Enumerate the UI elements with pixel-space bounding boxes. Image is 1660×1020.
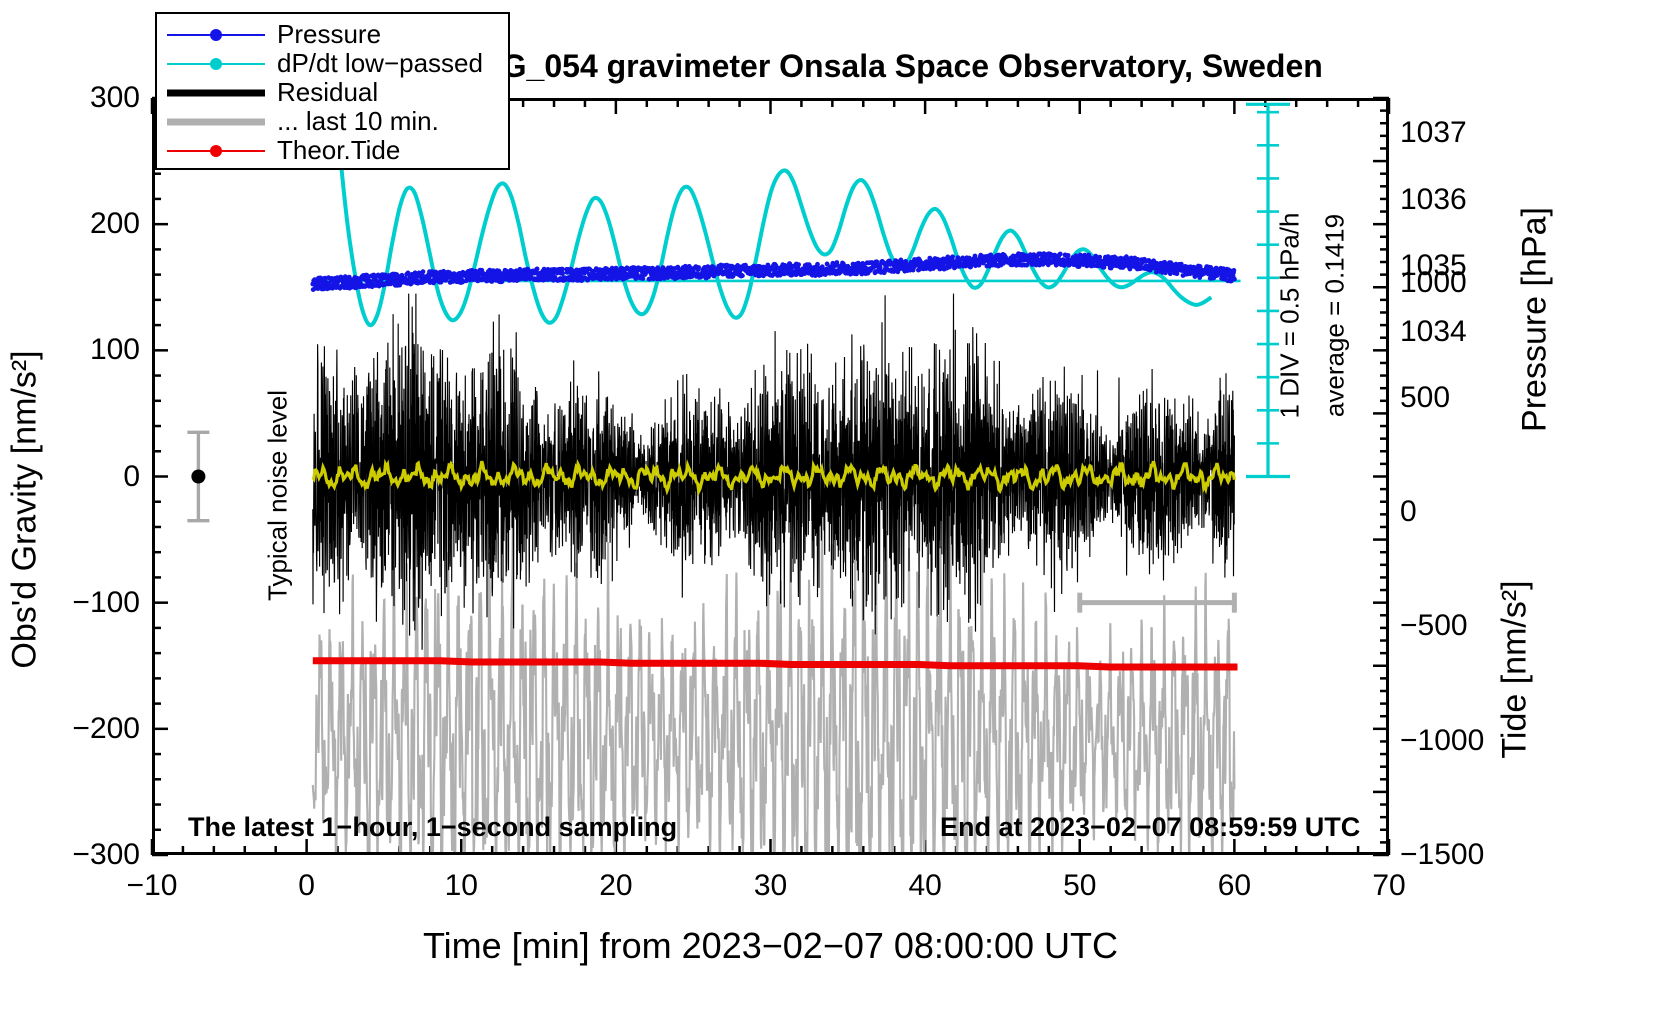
legend-label-pressure: Pressure — [265, 19, 381, 50]
ticks-tide-label: −1000 — [1400, 724, 1484, 758]
div-scale-label: 1 DIV = 0.5 hPa/h — [1275, 166, 1306, 466]
ticks-left-label: −300 — [72, 838, 140, 872]
legend-item-dpdt[interactable]: dP/dt low−passed — [157, 49, 508, 78]
legend-swatch-tide — [167, 141, 265, 161]
ticks-pressure-label: 1037 — [1400, 116, 1467, 150]
x-tick-label: 10 — [445, 869, 478, 903]
footer-note-left: The latest 1−hour, 1−second sampling — [188, 812, 677, 843]
legend-swatch-pressure — [167, 25, 265, 45]
legend-swatch-residual — [167, 83, 265, 103]
y-axis-label-tide: Tide [nm/s²] — [1496, 440, 1535, 900]
x-tick-label: 30 — [754, 869, 787, 903]
average-value-label: average = 0.1419 — [1320, 166, 1351, 466]
ticks-pressure-label: 1034 — [1400, 315, 1467, 349]
ticks-left-label: 200 — [90, 207, 140, 241]
x-tick-label: 40 — [908, 869, 941, 903]
legend-swatch-dpdt — [167, 54, 265, 74]
ticks-tide-label: 1000 — [1400, 266, 1467, 300]
ticks-left-label: 300 — [90, 81, 140, 115]
chart-title: SCG_054 gravimeter Onsala Space Observat… — [390, 48, 1390, 85]
footer-note-right: End at 2023−02−07 08:59:59 UTC — [940, 812, 1360, 843]
legend-label-dpdt: dP/dt low−passed — [265, 48, 483, 79]
x-tick-label: 60 — [1218, 869, 1251, 903]
ticks-tide-label: 0 — [1400, 495, 1417, 529]
ticks-left-label: 0 — [123, 460, 140, 494]
legend-swatch-last10 — [167, 112, 265, 132]
ticks-left-label: −200 — [72, 712, 140, 746]
x-tick-label: −10 — [127, 869, 178, 903]
legend-item-residual[interactable]: Residual — [157, 78, 508, 107]
ticks-left-label: 100 — [90, 333, 140, 367]
chart-legend: Pressure dP/dt low−passed Residual ... l… — [155, 12, 510, 170]
ticks-tide-label: −500 — [1400, 609, 1468, 643]
ticks-tide-label: 500 — [1400, 381, 1450, 415]
x-tick-label: 20 — [599, 869, 632, 903]
ticks-pressure-label: 1036 — [1400, 183, 1467, 217]
typical-noise-level-label: Typical noise level — [263, 356, 294, 636]
x-tick-label: 50 — [1063, 869, 1096, 903]
chart-root: SCG_054 gravimeter Onsala Space Observat… — [0, 0, 1660, 1020]
ticks-left-label: −100 — [72, 586, 140, 620]
legend-label-tide: Theor.Tide — [265, 135, 400, 166]
plot-frame — [152, 98, 1389, 855]
y-axis-label-left: Obs'd Gravity [nm/s²] — [6, 230, 45, 790]
legend-item-tide[interactable]: Theor.Tide — [157, 136, 508, 165]
x-tick-label: 70 — [1372, 869, 1405, 903]
legend-label-last10: ... last 10 min. — [265, 106, 439, 137]
x-tick-label: 0 — [298, 869, 315, 903]
legend-item-pressure[interactable]: Pressure — [157, 20, 508, 49]
ticks-tide-label: −1500 — [1400, 838, 1484, 872]
legend-label-residual: Residual — [265, 77, 378, 108]
x-axis-label: Time [min] from 2023−02−07 08:00:00 UTC — [152, 925, 1389, 967]
legend-item-last10[interactable]: ... last 10 min. — [157, 107, 508, 136]
